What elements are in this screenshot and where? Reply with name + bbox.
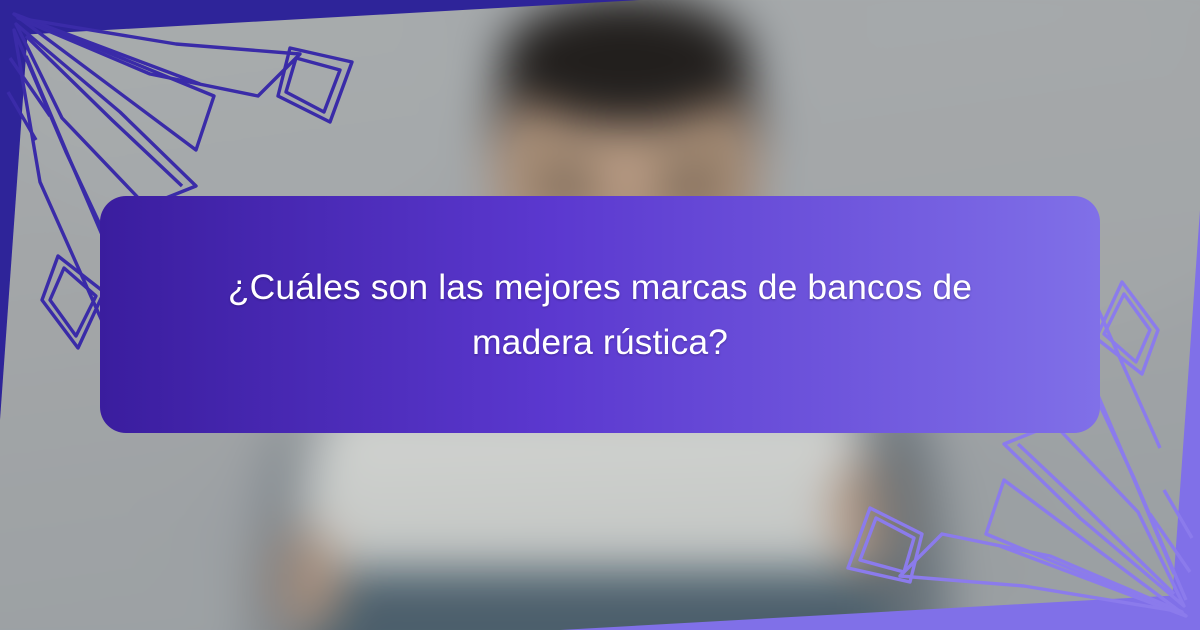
question-card: ¿Cuáles son las mejores marcas de bancos… — [0, 0, 1200, 630]
question-banner: ¿Cuáles son las mejores marcas de bancos… — [100, 196, 1100, 433]
question-text: ¿Cuáles son las mejores marcas de bancos… — [100, 196, 1100, 433]
